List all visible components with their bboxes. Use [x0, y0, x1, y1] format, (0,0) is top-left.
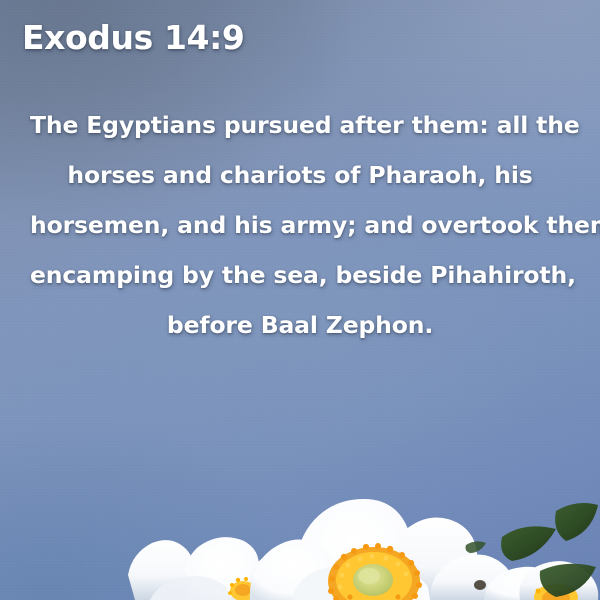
verse-image: Exodus 14:9 The Egyptians pursued after …: [0, 0, 600, 600]
verse-line: The Egyptians pursued after them: all th…: [30, 100, 570, 150]
leaf-upper-right: [501, 526, 556, 561]
flower-foreground: [0, 425, 600, 600]
verse-line: before Baal Zephon.: [30, 300, 570, 350]
leaf-top-right: [555, 503, 598, 541]
verse-line: encamping by the sea, beside Pihahiroth,: [30, 250, 570, 300]
petal-speck: [474, 580, 486, 590]
verse-line: horses and chariots of Pharaoh, his: [30, 150, 570, 200]
verse-line: horsemen, and his army; and overtook the…: [30, 200, 570, 250]
verse-reference-title: Exodus 14:9: [22, 18, 244, 57]
verse-text-block: The Egyptians pursued after them: all th…: [30, 100, 570, 350]
